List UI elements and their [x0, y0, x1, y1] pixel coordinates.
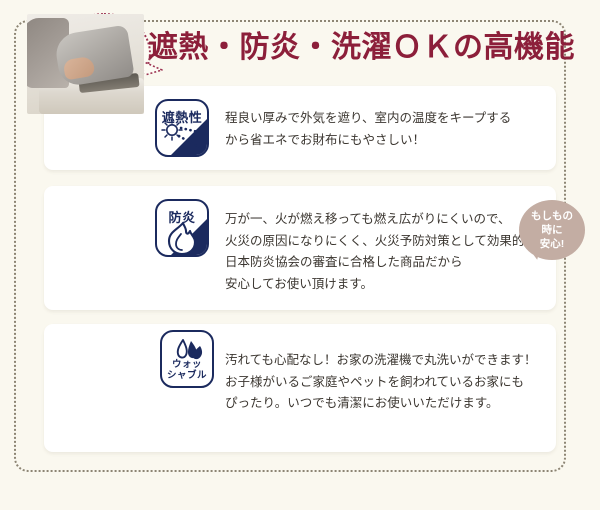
note-line-1: もしもの: [531, 209, 573, 223]
feature-text-heat-shield: 程良い厚みで外気を遮り、室内の温度をキープする から省エネでお財布にもやさしい！: [225, 108, 511, 151]
note-bubble-text: もしもの 時に 安心!: [519, 200, 585, 260]
feature-text-washable: 汚れても心配なし！お家の洗濯機で丸洗いができます！ お子様がいるご家庭やペットを…: [225, 350, 537, 415]
page-title: 遮熱・防炎・洗濯ＯＫの高機能: [148, 33, 575, 63]
feature-text-flame-retardant: 万が一、火が燃え移っても燃え広がりにくいので、 火災の原因になりにくく、火災予防…: [225, 209, 537, 295]
water-droplets-glyph: [162, 337, 214, 365]
note-line-3: 安心!: [540, 237, 565, 251]
sun-heat-shield-icon: 遮熱性: [155, 99, 209, 157]
flame-retardant-icon: 防炎: [155, 199, 209, 257]
flame-glyph: [157, 220, 209, 257]
icon-label-line-2: シャブル: [162, 370, 212, 381]
washing-machine-cushion-photo: [27, 14, 144, 114]
water-droplets-washable-icon: ウォッ シャブル: [160, 330, 214, 388]
sun-rays-glyph: [157, 118, 209, 157]
reassurance-note-bubble: もしもの 時に 安心!: [519, 200, 585, 260]
note-line-2: 時に: [542, 223, 563, 237]
